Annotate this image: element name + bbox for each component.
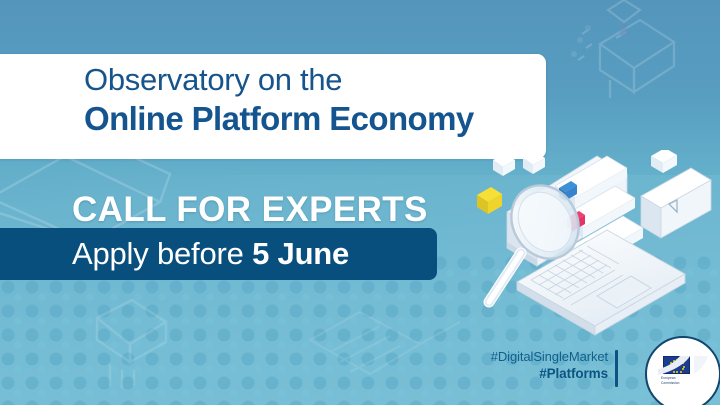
ghost-hand-device-icon	[62, 288, 192, 393]
floating-card-small-2	[523, 152, 545, 174]
floating-card-yellow	[477, 187, 502, 214]
hashtag-block: #DigitalSingleMarket #Platforms	[491, 348, 608, 383]
ghost-circuit-icon	[300, 300, 470, 400]
apply-deadline-text: Apply before 5 June	[72, 236, 349, 272]
hashtag-divider	[615, 350, 618, 387]
ghost-device-top-right-icon	[548, 0, 698, 106]
page-title-line-1: Observatory on the	[84, 62, 342, 98]
logo-swoosh-icon	[658, 356, 712, 376]
isometric-laptop-search-illustration	[455, 150, 720, 350]
floating-card-small-3	[651, 150, 677, 173]
campaign-banner: Observatory on the Online Platform Econo…	[0, 0, 720, 405]
apply-prefix-label: Apply before	[72, 236, 252, 271]
floating-card-small-1	[493, 154, 515, 176]
logo-inner-group: European Commission	[658, 356, 712, 396]
hashtag-digital-single-market: #DigitalSingleMarket	[491, 348, 608, 365]
apply-date-label: 5 June	[252, 236, 349, 271]
call-for-experts-headline: CALL FOR EXPERTS	[72, 190, 428, 230]
page-title-line-2: Online Platform Economy	[84, 100, 474, 138]
video-card	[641, 168, 711, 238]
hashtag-platforms: #Platforms	[491, 365, 608, 383]
logo-text-line-2: Commission	[661, 381, 701, 386]
logo-text: European Commission	[661, 376, 701, 385]
